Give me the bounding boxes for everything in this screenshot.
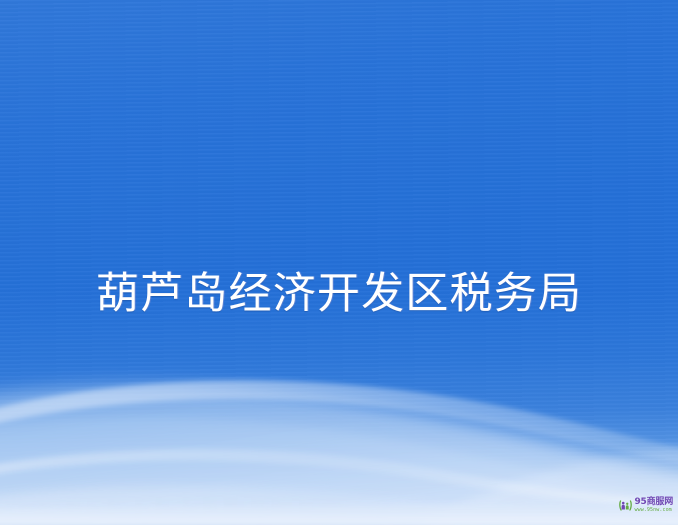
watermark: 95商服网 www.95nw.com	[619, 498, 673, 513]
page-title: 葫芦岛经济开发区税务局	[96, 272, 582, 317]
site-banner: 葫芦岛经济开发区税务局 95商服网 www.95nw.com	[0, 0, 678, 525]
watermark-text: 95商服网 www.95nw.com	[634, 498, 673, 513]
people-logo-icon	[619, 499, 632, 513]
banner-title-container: 葫芦岛经济开发区税务局	[0, 243, 678, 346]
watermark-brand: 95商服网	[634, 498, 673, 507]
watermark-url: www.95nw.com	[634, 508, 673, 513]
